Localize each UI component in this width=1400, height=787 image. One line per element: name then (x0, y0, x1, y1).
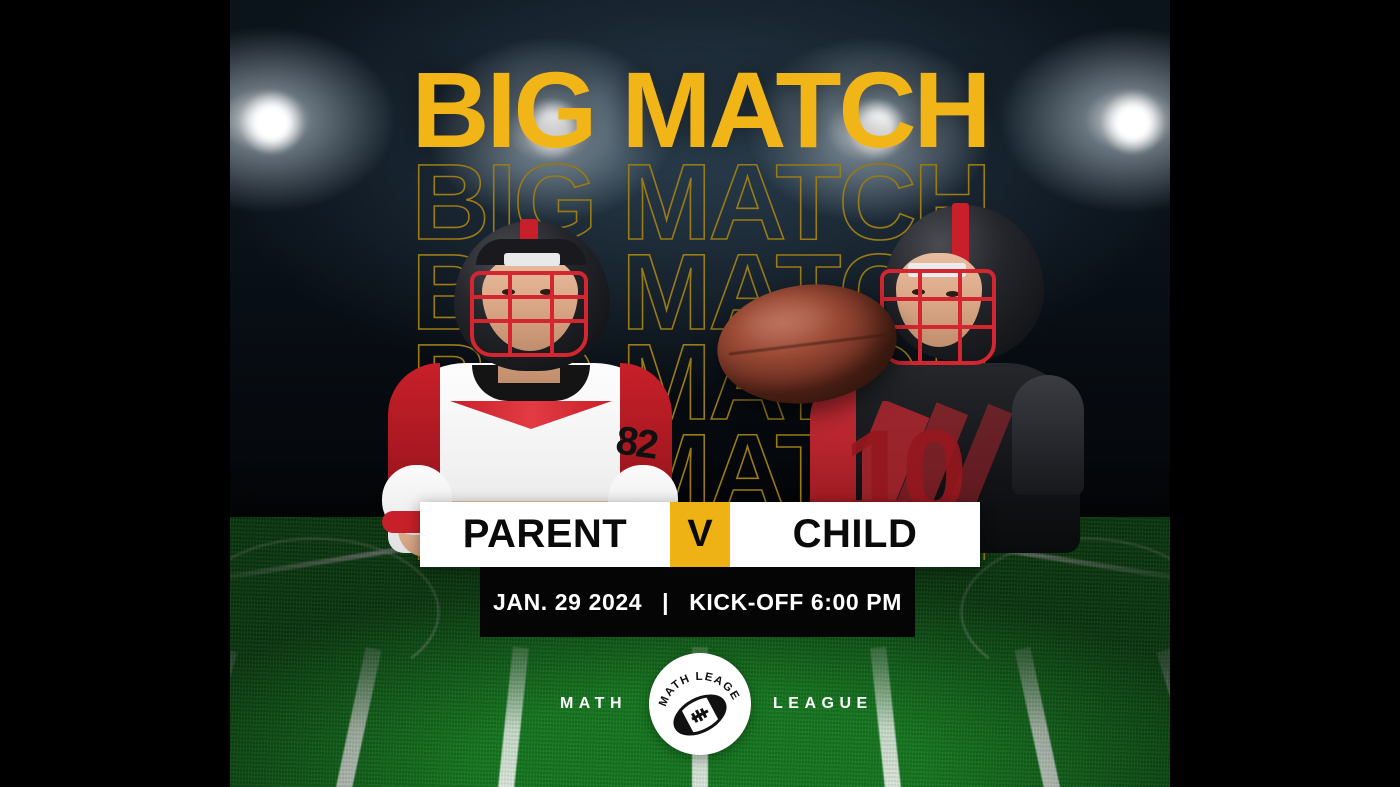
poster-headline: BIG MATCH (412, 56, 989, 164)
matchup-bar: PARENT V CHILD (420, 502, 980, 567)
player-left-parent: 82 (380, 215, 680, 545)
big-match-poster: BIG MATCH BIG MATCH BIG MATCH BIG MATCH … (230, 0, 1170, 787)
stadium-light-4 (1102, 92, 1164, 154)
brand-word-left: MATH (499, 695, 649, 713)
logo-football-icon (669, 688, 732, 742)
left-facemask (470, 271, 588, 357)
kickoff-time: KICK-OFF 6:00 PM (689, 589, 902, 615)
versus-cell: V (670, 502, 730, 567)
versus-label: V (687, 513, 712, 556)
math-league-logo: MATH LEAGE (649, 653, 751, 755)
away-team-label: CHILD (793, 512, 918, 557)
left-jersey-number: 82 (613, 418, 659, 468)
schedule-separator: | (649, 589, 682, 616)
stadium-light-1 (240, 92, 304, 154)
match-date: JAN. 29 2024 (493, 589, 642, 615)
brand-row: MATH MATH LEAGE (230, 648, 1170, 760)
home-team-label: PARENT (463, 512, 627, 557)
brand-word-right: LEAGUE (751, 695, 901, 713)
home-team-cell: PARENT (420, 502, 670, 567)
poster-canvas: BIG MATCH BIG MATCH BIG MATCH BIG MATCH … (0, 0, 1400, 787)
away-team-cell: CHILD (730, 502, 980, 567)
schedule-bar: JAN. 29 2024 | KICK-OFF 6:00 PM (480, 567, 915, 637)
right-facemask (880, 269, 996, 365)
schedule-text: JAN. 29 2024 | KICK-OFF 6:00 PM (493, 589, 902, 616)
